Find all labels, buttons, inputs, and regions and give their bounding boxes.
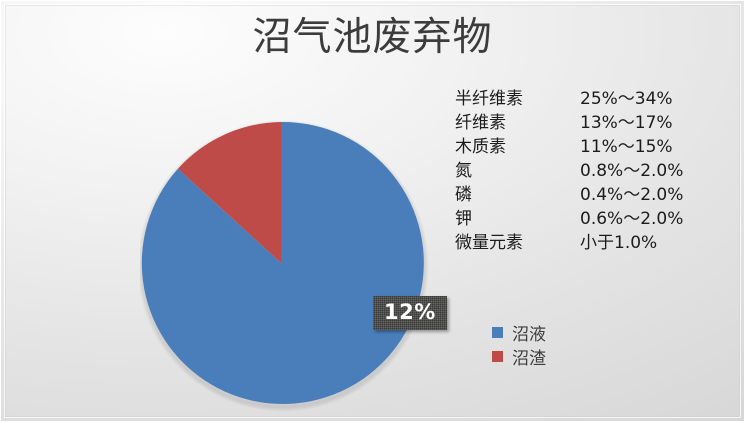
composition-name: 钾 <box>455 204 580 229</box>
table-row: 木质素 11%～15% <box>455 132 700 156</box>
composition-name: 半纤维素 <box>455 84 580 109</box>
legend-swatch-icon <box>492 327 503 338</box>
legend-label: 沼渣 <box>512 344 546 369</box>
slide-canvas: 沼气池废弃物 12% 88% 半纤维素 25%～34% <box>0 0 745 422</box>
composition-table: 半纤维素 25%～34% 纤维素 13%～17% 木质素 11%～15% 氮 0… <box>455 84 700 252</box>
legend-item-zhazha[interactable]: 沼渣 <box>492 344 546 368</box>
composition-name: 磷 <box>455 180 580 205</box>
composition-name: 微量元素 <box>455 228 580 253</box>
page-title: 沼气池废弃物 <box>0 14 745 62</box>
pie-chart-svg <box>140 112 430 412</box>
composition-value: 11%～15% <box>580 132 673 157</box>
composition-value: 0.4%～2.0% <box>580 180 683 205</box>
composition-name: 木质素 <box>455 132 580 157</box>
composition-value: 25%～34% <box>580 84 673 109</box>
legend-label: 沼液 <box>512 320 546 345</box>
table-row: 氮 0.8%～2.0% <box>455 156 700 180</box>
pie-chart: 12% 88% <box>140 112 430 412</box>
composition-value: 0.8%～2.0% <box>580 156 683 181</box>
composition-value: 0.6%～2.0% <box>580 204 683 229</box>
composition-name: 纤维素 <box>455 108 580 133</box>
composition-value: 小于1.0% <box>580 228 657 253</box>
chart-legend: 沼液 沼渣 <box>492 320 546 368</box>
table-row: 钾 0.6%～2.0% <box>455 204 700 228</box>
legend-swatch-icon <box>492 351 503 362</box>
legend-item-zhaye[interactable]: 沼液 <box>492 320 546 344</box>
table-row: 半纤维素 25%～34% <box>455 84 700 108</box>
table-row: 纤维素 13%～17% <box>455 108 700 132</box>
table-row: 微量元素 小于1.0% <box>455 228 700 252</box>
table-row: 磷 0.4%～2.0% <box>455 180 700 204</box>
pie-label-zhazha: 12% <box>373 296 447 330</box>
composition-value: 13%～17% <box>580 108 673 133</box>
composition-name: 氮 <box>455 156 580 181</box>
